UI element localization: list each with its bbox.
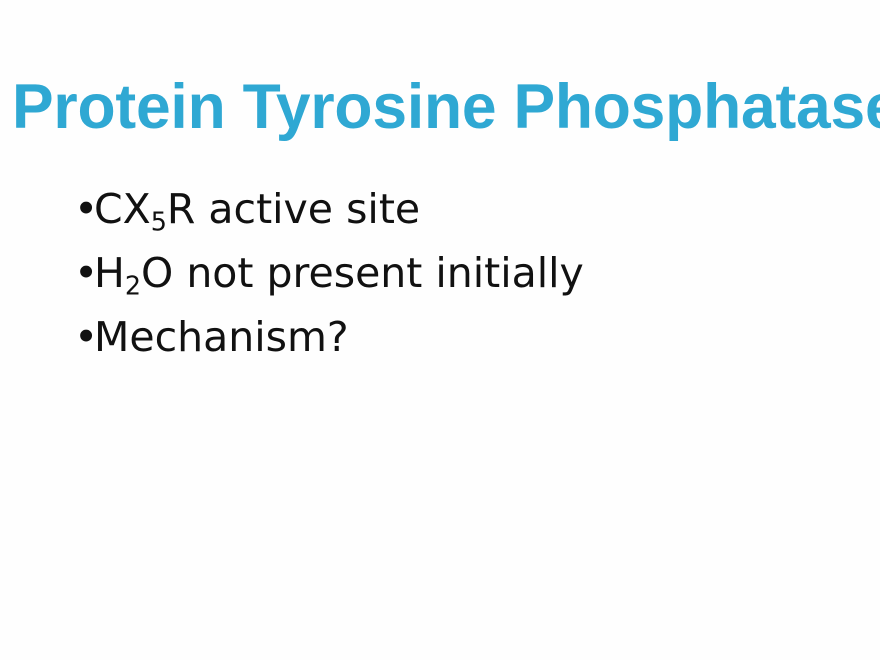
bullet-text-subscript: 5 xyxy=(151,207,167,237)
slide-body: • CX5R active site • H2O not present ini… xyxy=(60,188,820,359)
bullet-text-suffix: O not present initially xyxy=(141,249,584,297)
bullet-list: • CX5R active site • H2O not present ini… xyxy=(60,188,820,359)
bullet-text-prefix: H xyxy=(94,249,125,297)
bullet-text-prefix: Mechanism? xyxy=(94,313,349,361)
bullet-item-cx5r-active-site: • CX5R active site xyxy=(60,188,820,231)
bullet-point-icon: • xyxy=(74,252,98,295)
bullet-text-mechanism: Mechanism? xyxy=(94,313,349,361)
bullet-text-prefix: CX xyxy=(94,185,151,233)
bullet-text-suffix: R active site xyxy=(167,185,420,233)
bullet-item-mechanism: • Mechanism? xyxy=(60,316,820,359)
bullet-point-icon: • xyxy=(74,188,98,231)
presentation-slide: Protein Tyrosine Phosphatases • CX5R act… xyxy=(0,0,880,660)
bullet-item-h2o-not-present-initially: • H2O not present initially xyxy=(60,252,820,295)
bullet-text-cx5r-active-site: CX5R active site xyxy=(94,185,420,233)
bullet-text-subscript: 2 xyxy=(125,271,141,301)
bullet-point-icon: • xyxy=(74,316,98,359)
slide-title: Protein Tyrosine Phosphatases xyxy=(12,76,861,139)
bullet-text-h2o-not-present-initially: H2O not present initially xyxy=(94,249,584,297)
